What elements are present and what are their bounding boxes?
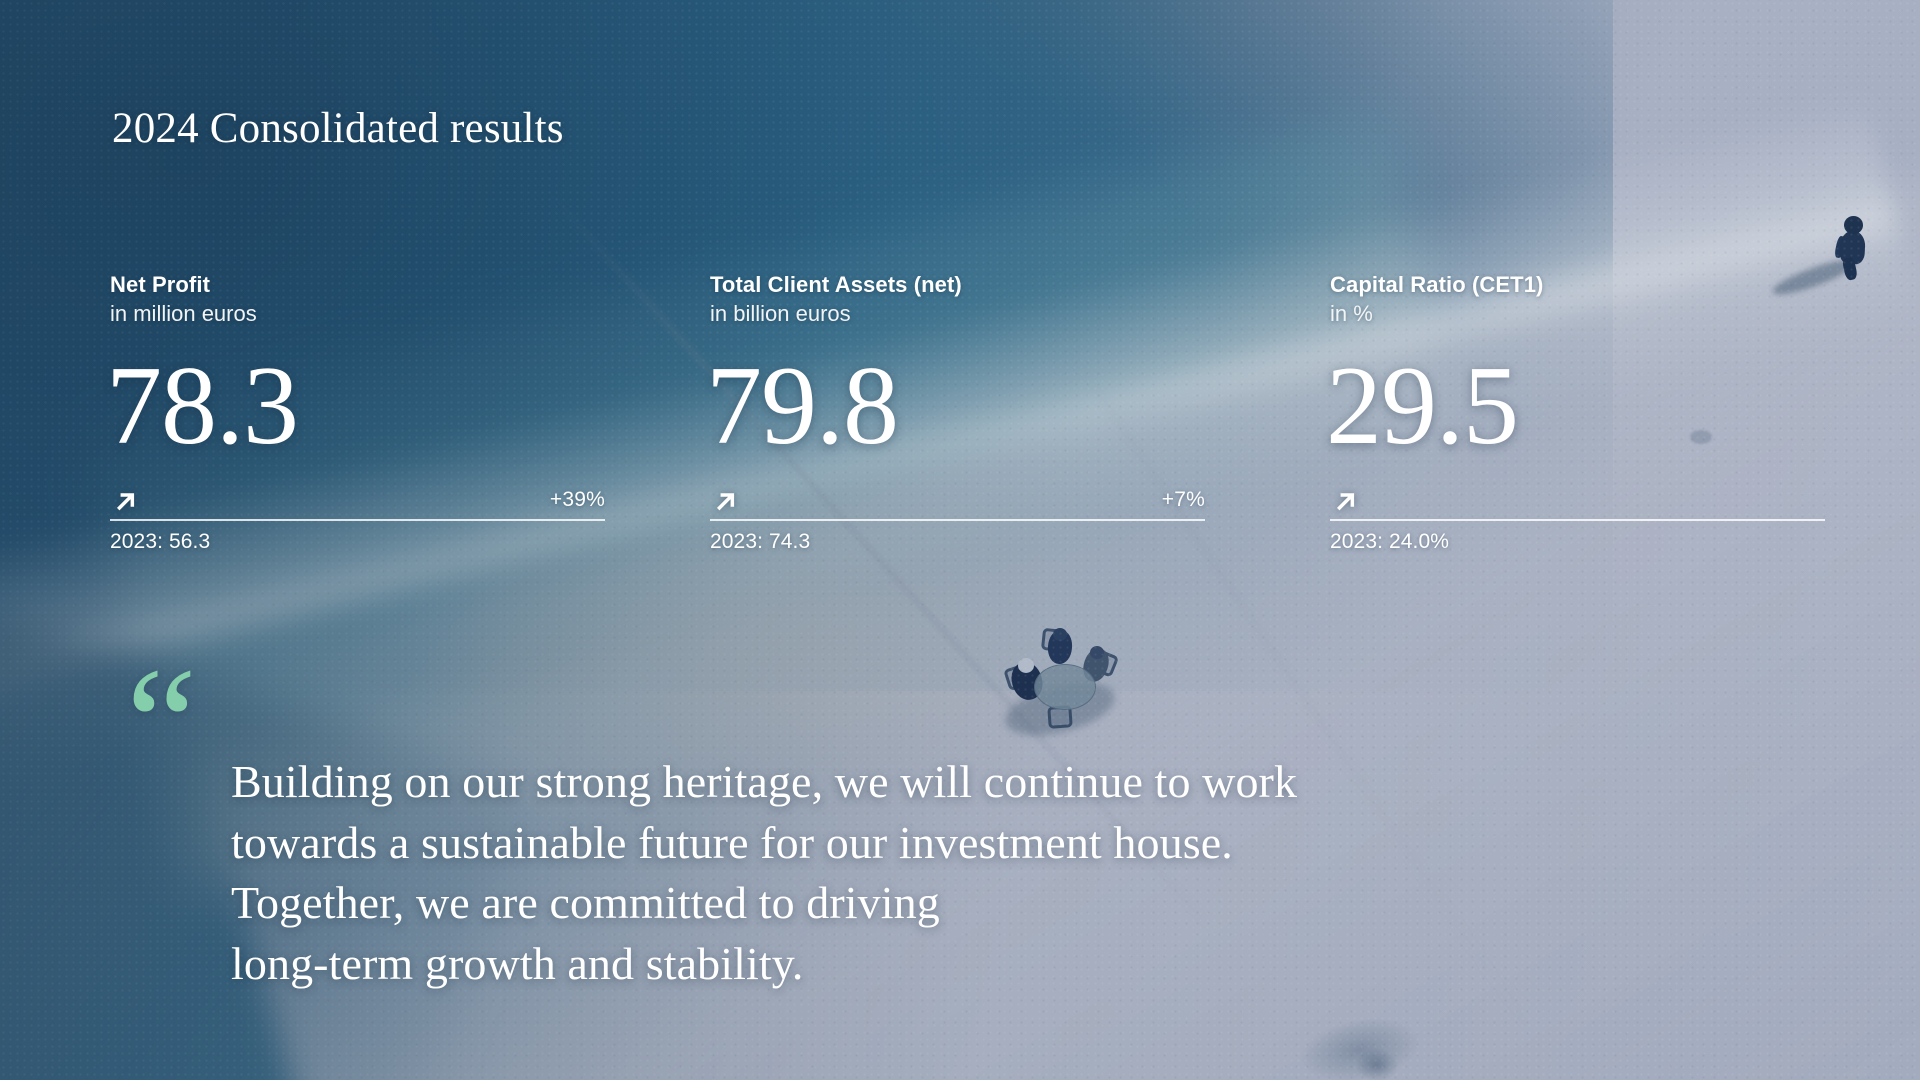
kpi-divider [1330,519,1825,521]
arrow-up-right-icon [710,487,737,514]
arrow-up-right-icon [110,487,137,514]
kpi-card-total-client-assets: Total Client Assets (net) in billion eur… [710,272,1322,554]
slide-content: 2024 Consolidated results Net Profit in … [0,0,1920,1080]
kpi-value: 29.5 [1326,350,1920,462]
kpi-previous-year: 2023: 74.3 [710,530,1322,554]
kpi-row: Net Profit in million euros 78.3 +39% 20… [0,272,1920,572]
arrow-up-right-icon [1330,487,1357,514]
quote-block: “ Building on our strong heritage, we wi… [126,666,1826,762]
kpi-divider [710,519,1205,521]
kpi-change-row [1330,476,1825,514]
quote-line: towards a sustainable future for our inv… [231,813,1297,874]
kpi-value: 78.3 [106,350,722,462]
quote-line: Building on our strong heritage, we will… [231,752,1297,813]
results-slide: 2024 Consolidated results Net Profit in … [0,0,1920,1080]
kpi-title: Total Client Assets (net) [710,272,1322,299]
kpi-change-row: +7% [710,476,1205,514]
kpi-unit: in % [1330,301,1920,328]
kpi-divider [110,519,605,521]
kpi-title: Net Profit [110,272,722,299]
kpi-change-row: +39% [110,476,605,514]
kpi-card-net-profit: Net Profit in million euros 78.3 +39% 20… [110,272,722,554]
kpi-unit: in billion euros [710,301,1322,328]
quote-line: Together, we are committed to driving [231,873,1297,934]
quote-mark-icon: “ [126,666,1826,762]
quote-text: Building on our strong heritage, we will… [231,752,1297,995]
kpi-value: 79.8 [706,350,1322,462]
kpi-card-capital-ratio: Capital Ratio (CET1) in % 29.5 2023: 24.… [1330,272,1920,554]
kpi-delta: +7% [1162,488,1205,514]
kpi-title: Capital Ratio (CET1) [1330,272,1920,299]
page-title: 2024 Consolidated results [112,104,564,153]
quote-line: long-term growth and stability. [231,934,1297,995]
kpi-previous-year: 2023: 56.3 [110,530,722,554]
kpi-delta: +39% [550,488,605,514]
kpi-unit: in million euros [110,301,722,328]
kpi-previous-year: 2023: 24.0% [1330,530,1920,554]
